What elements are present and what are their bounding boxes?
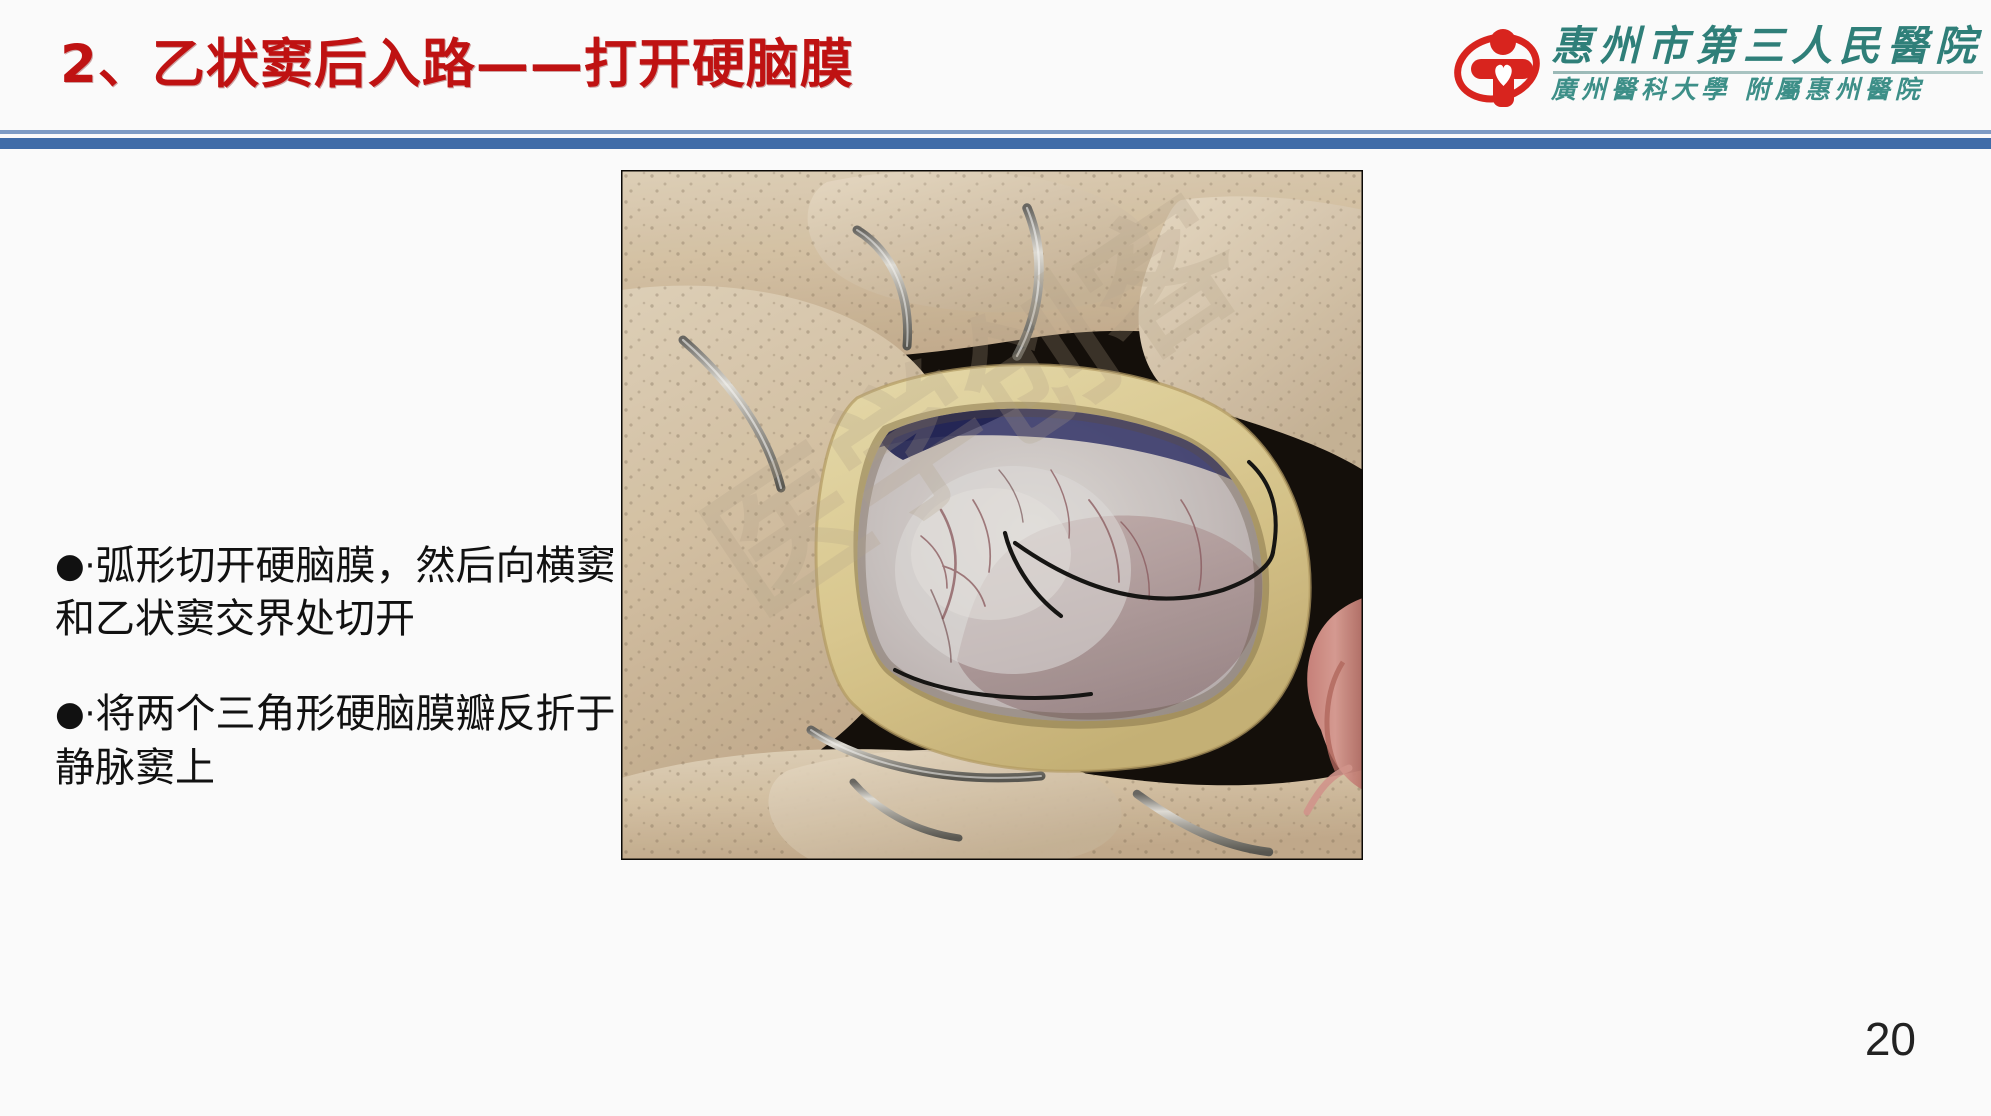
list-item: ●·弧形切开硬脑膜，然后向横窦和乙状窦交界处切开 xyxy=(55,540,635,646)
page-title: 2、乙状窦后入路——打开硬脑膜 xyxy=(60,38,854,91)
header-rule-dark xyxy=(0,138,1991,149)
hospital-brand: 惠州市第三人民醫院 廣州醫科大學 附屬惠州醫院 xyxy=(1449,10,1983,118)
bullet-text: 将两个三角形硬脑膜瓣反折于静脉窦上 xyxy=(55,691,615,790)
logo-svg xyxy=(1449,16,1545,112)
slide-root: 2、乙状窦后入路——打开硬脑膜 惠州市第三人民醫院 xyxy=(0,0,1991,1116)
surgical-photo: 医学创客 xyxy=(621,170,1363,860)
hospital-name-block: 惠州市第三人民醫院 廣州醫科大學 附屬惠州醫院 xyxy=(1551,16,1983,112)
hospital-cross-heart-logo xyxy=(1449,16,1545,112)
hospital-name-secondary: 廣州醫科大學 附屬惠州醫院 xyxy=(1551,77,1983,103)
list-item: ●·将两个三角形硬脑膜瓣反折于静脉窦上 xyxy=(55,688,635,794)
bullet-marker-icon: ●· xyxy=(55,694,95,734)
bullet-list: ●·弧形切开硬脑膜，然后向横窦和乙状窦交界处切开 ●·将两个三角形硬脑膜瓣反折于… xyxy=(55,540,635,837)
bullet-text: 弧形切开硬脑膜，然后向横窦和乙状窦交界处切开 xyxy=(55,543,615,642)
slide-header: 2、乙状窦后入路——打开硬脑膜 惠州市第三人民醫院 xyxy=(0,0,1991,128)
header-rule-light xyxy=(0,130,1991,134)
brand-separator-line xyxy=(1553,71,1983,74)
bullet-marker-icon: ●· xyxy=(55,546,95,586)
surgical-photo-illustration: 医学创客 xyxy=(621,170,1363,860)
hospital-name-primary: 惠州市第三人民醫院 xyxy=(1551,25,1983,68)
page-number: 20 xyxy=(1865,1012,1916,1066)
